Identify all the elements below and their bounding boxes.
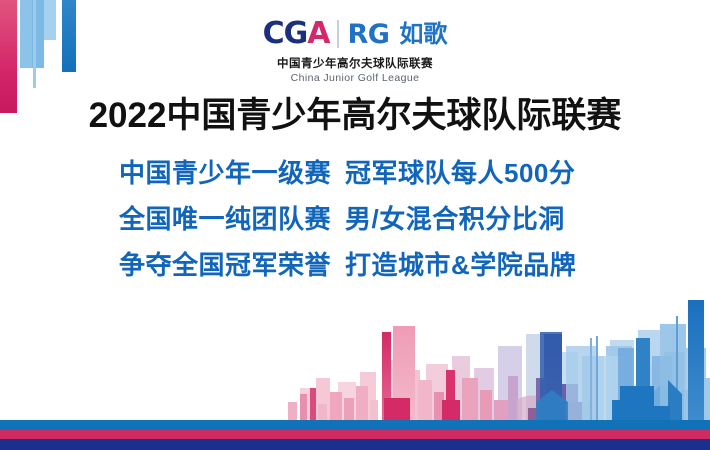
logo-divider: [337, 20, 339, 48]
cga-wordmark: CGA: [263, 19, 330, 49]
feature-row: 中国青少年一级赛 冠军球队每人500分: [0, 160, 710, 186]
league-name-english: China Junior Golf League: [0, 72, 710, 84]
feature-left-text: 全国唯一纯团队赛: [119, 206, 345, 232]
league-name-chinese: 中国青少年高尔夫球队际联赛: [0, 55, 710, 71]
bottom-bar-pink: [0, 430, 710, 439]
ruge-chinese-wordmark: 如歌: [399, 22, 447, 46]
cga-letter-g: G: [284, 16, 308, 51]
feature-left-text: 中国青少年一级赛: [119, 160, 345, 186]
logo-wordmark-row: CGA RG 如歌: [0, 18, 710, 50]
feature-right-text: 男/女混合积分比洞: [345, 206, 591, 232]
bottom-bar-navy: [0, 439, 710, 450]
cga-letter-a: A: [307, 16, 329, 51]
poster-canvas: CGA RG 如歌 中国青少年高尔夫球队际联赛 China Junior Gol…: [0, 0, 710, 450]
feature-right-text: 冠军球队每人500分: [345, 160, 591, 186]
feature-row: 全国唯一纯团队赛 男/女混合积分比洞: [0, 206, 710, 232]
page-title: 2022中国青少年高尔夫球队际联赛: [0, 96, 710, 136]
bottom-color-bars: [0, 420, 710, 450]
rg-wordmark: RG: [347, 21, 389, 48]
city-skyline-silhouette: [0, 260, 710, 420]
bottom-bar-blue: [0, 420, 710, 430]
cga-letter-c: C: [263, 16, 284, 51]
logo-lockup: CGA RG 如歌 中国青少年高尔夫球队际联赛 China Junior Gol…: [0, 18, 710, 84]
